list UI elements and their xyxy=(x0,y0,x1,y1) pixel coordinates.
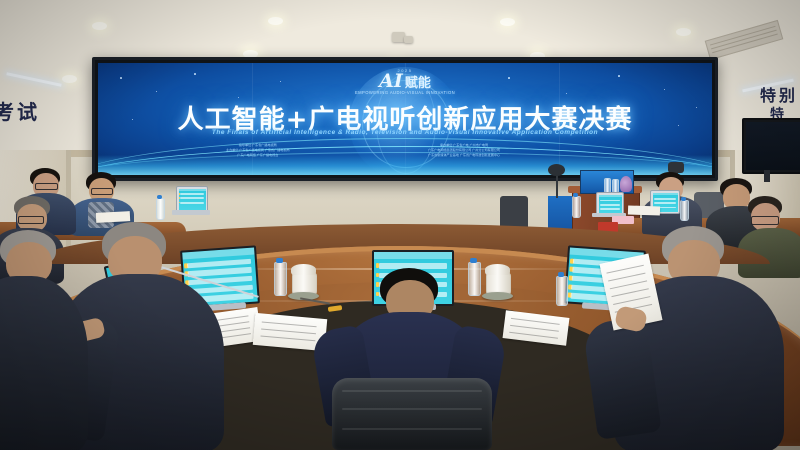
water-bottle[interactable] xyxy=(156,198,165,220)
laptop-back-left[interactable] xyxy=(176,186,208,212)
attendee-front-far-left xyxy=(0,230,80,450)
laptop-base xyxy=(172,210,210,215)
tea-cup-lid xyxy=(485,264,510,275)
water-bottle[interactable] xyxy=(274,262,287,296)
led-logo-subtitle: EMPOWERING AUDIO-VISUAL INNOVATION xyxy=(355,90,455,95)
water-bottle[interactable] xyxy=(572,196,581,218)
podium-flower-arrangement xyxy=(620,176,632,192)
camera-head xyxy=(548,164,565,176)
glasses-icon xyxy=(751,216,779,225)
led-screen-content: 2025 AI 赋能 EMPOWERING AUDIO-VISUAL INNOV… xyxy=(98,63,712,175)
glasses-icon xyxy=(18,216,44,224)
led-logo: AI 赋能 xyxy=(379,72,431,90)
executive-chair[interactable] xyxy=(332,378,492,450)
conference-room-photo: 考试 特别 特 2025 AI 赋能 EMPOWER xyxy=(0,0,800,450)
ceiling-downlight xyxy=(62,75,77,83)
bottle-cap xyxy=(157,195,162,199)
glasses-icon xyxy=(35,183,58,190)
bottle-cap xyxy=(470,258,477,263)
ceiling-downlight xyxy=(268,17,283,25)
ceiling-spotlight xyxy=(404,36,413,43)
bottle-cap xyxy=(681,197,686,201)
water-bottle[interactable] xyxy=(680,200,689,221)
ceiling-downlight xyxy=(500,18,515,26)
tea-cup-lid xyxy=(291,264,316,275)
glasses-icon xyxy=(91,188,113,195)
laptop-screen xyxy=(179,189,206,210)
water-bottle[interactable] xyxy=(556,276,568,306)
led-logo-cn-text: 赋能 xyxy=(405,77,431,90)
led-logo-ai-text: AI xyxy=(379,72,403,90)
torso xyxy=(0,276,88,450)
laptop-screen xyxy=(599,195,622,213)
wall-sign-left: 考试 xyxy=(0,96,40,125)
wall-sign-right-line1: 特别 xyxy=(760,82,798,106)
bottle-cap xyxy=(573,193,578,197)
wall-monitor-right[interactable] xyxy=(742,118,800,174)
laptop-back-right[interactable] xyxy=(596,192,624,215)
bottle-cap xyxy=(276,258,283,263)
led-video-wall[interactable]: 2025 AI 赋能 EMPOWERING AUDIO-VISUAL INNOV… xyxy=(92,57,718,181)
ceiling-downlight xyxy=(92,22,107,30)
ceiling-downlight xyxy=(676,28,691,36)
led-english-subtitle: The Finals of Artificial Intelligence & … xyxy=(98,129,712,136)
document-stack-back-right xyxy=(628,205,660,215)
bottle-cap xyxy=(558,272,564,277)
